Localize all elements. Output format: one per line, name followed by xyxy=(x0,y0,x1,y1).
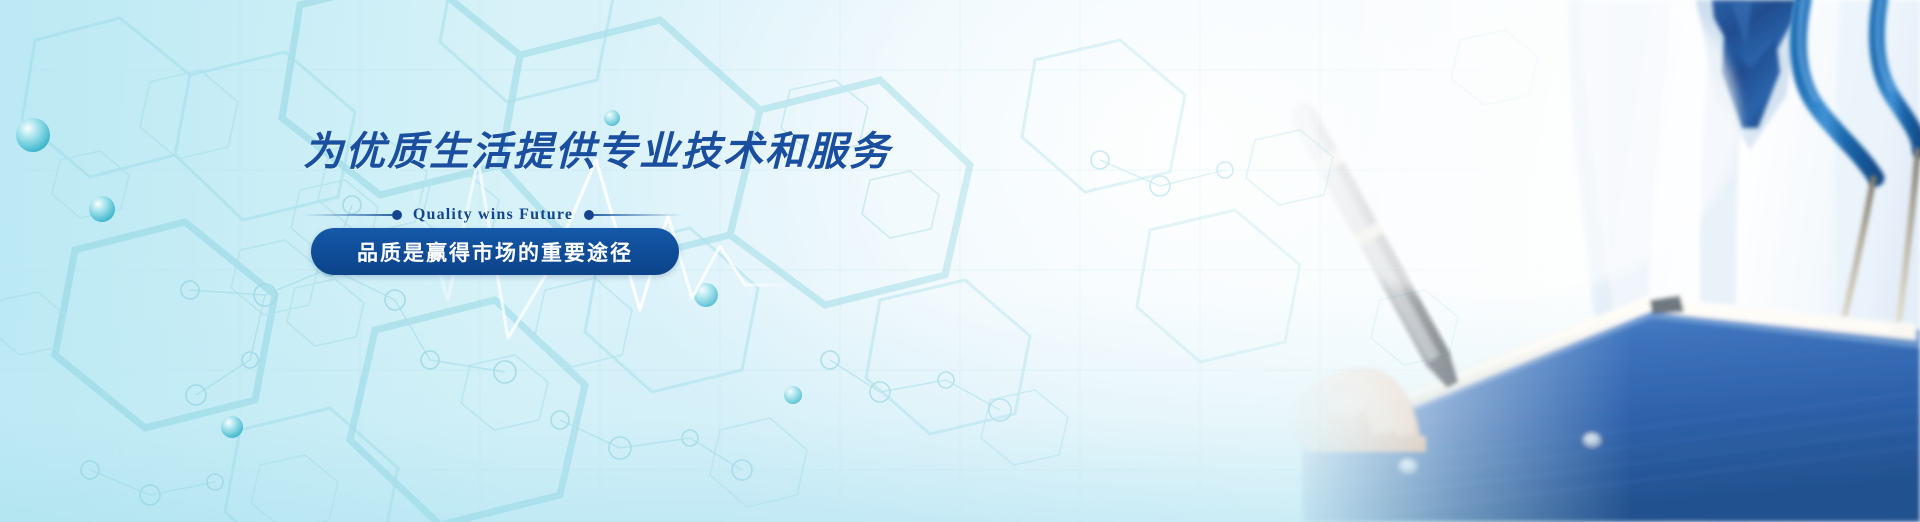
doctor-photo xyxy=(1280,0,1920,522)
tagline-left-rule xyxy=(303,214,392,216)
bullet-dot-icon xyxy=(392,210,402,220)
banner-content: 为优质生活提供专业技术和服务 Quality wins Future 品质是赢得… xyxy=(0,0,960,522)
tagline-right-rule xyxy=(594,214,683,216)
slogan-pill-button[interactable]: 品质是赢得市场的重要途径 xyxy=(311,228,679,275)
tagline-row: Quality wins Future xyxy=(303,200,683,230)
hero-banner: 为优质生活提供专业技术和服务 Quality wins Future 品质是赢得… xyxy=(0,0,1920,522)
tagline-text: Quality wins Future xyxy=(402,206,584,224)
slogan-pill-label: 品质是赢得市场的重要途径 xyxy=(357,237,633,267)
page-title: 为优质生活提供专业技术和服务 xyxy=(303,129,891,175)
bullet-dot-icon xyxy=(584,210,594,220)
